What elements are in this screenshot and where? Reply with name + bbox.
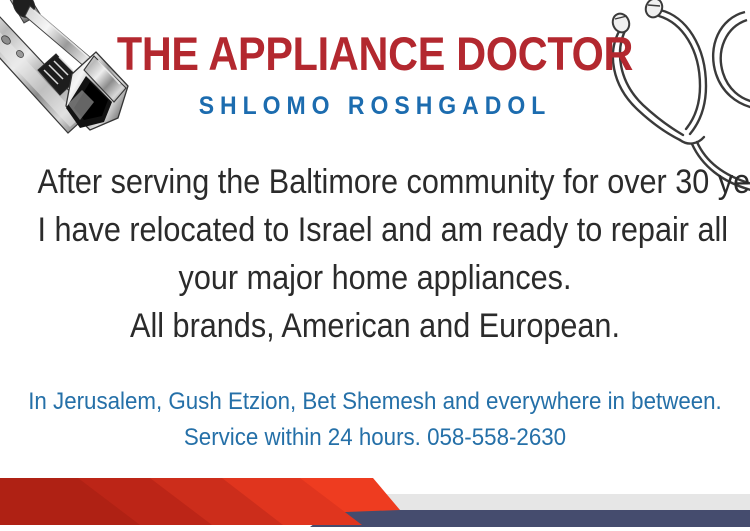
service-area-line: In Jerusalem, Gush Etzion, Bet Shemesh a… xyxy=(26,384,724,420)
advertisement-card: THE APPLIANCE DOCTOR SHLOMO ROSHGADOL Af… xyxy=(0,0,750,531)
body-line: your major home appliances. xyxy=(38,254,713,302)
practitioner-name: SHLOMO ROSHGADOL xyxy=(30,92,720,121)
body-line: After serving the Baltimore community fo… xyxy=(38,158,713,206)
earpiece-right xyxy=(643,0,665,20)
navy-band xyxy=(310,510,750,527)
page-title: THE APPLIANCE DOCTOR xyxy=(45,30,705,78)
headline-block: THE APPLIANCE DOCTOR SHLOMO ROSHGADOL xyxy=(0,30,750,121)
decorative-bottom-bar xyxy=(0,465,750,531)
body-copy: After serving the Baltimore community fo… xyxy=(0,158,750,350)
service-phone-line[interactable]: Service within 24 hours. 058-558-2630 xyxy=(26,420,724,456)
body-line: All brands, American and European. xyxy=(38,302,713,350)
contact-info: In Jerusalem, Gush Etzion, Bet Shemesh a… xyxy=(0,384,750,456)
body-line: I have relocated to Israel and am ready … xyxy=(38,206,713,254)
